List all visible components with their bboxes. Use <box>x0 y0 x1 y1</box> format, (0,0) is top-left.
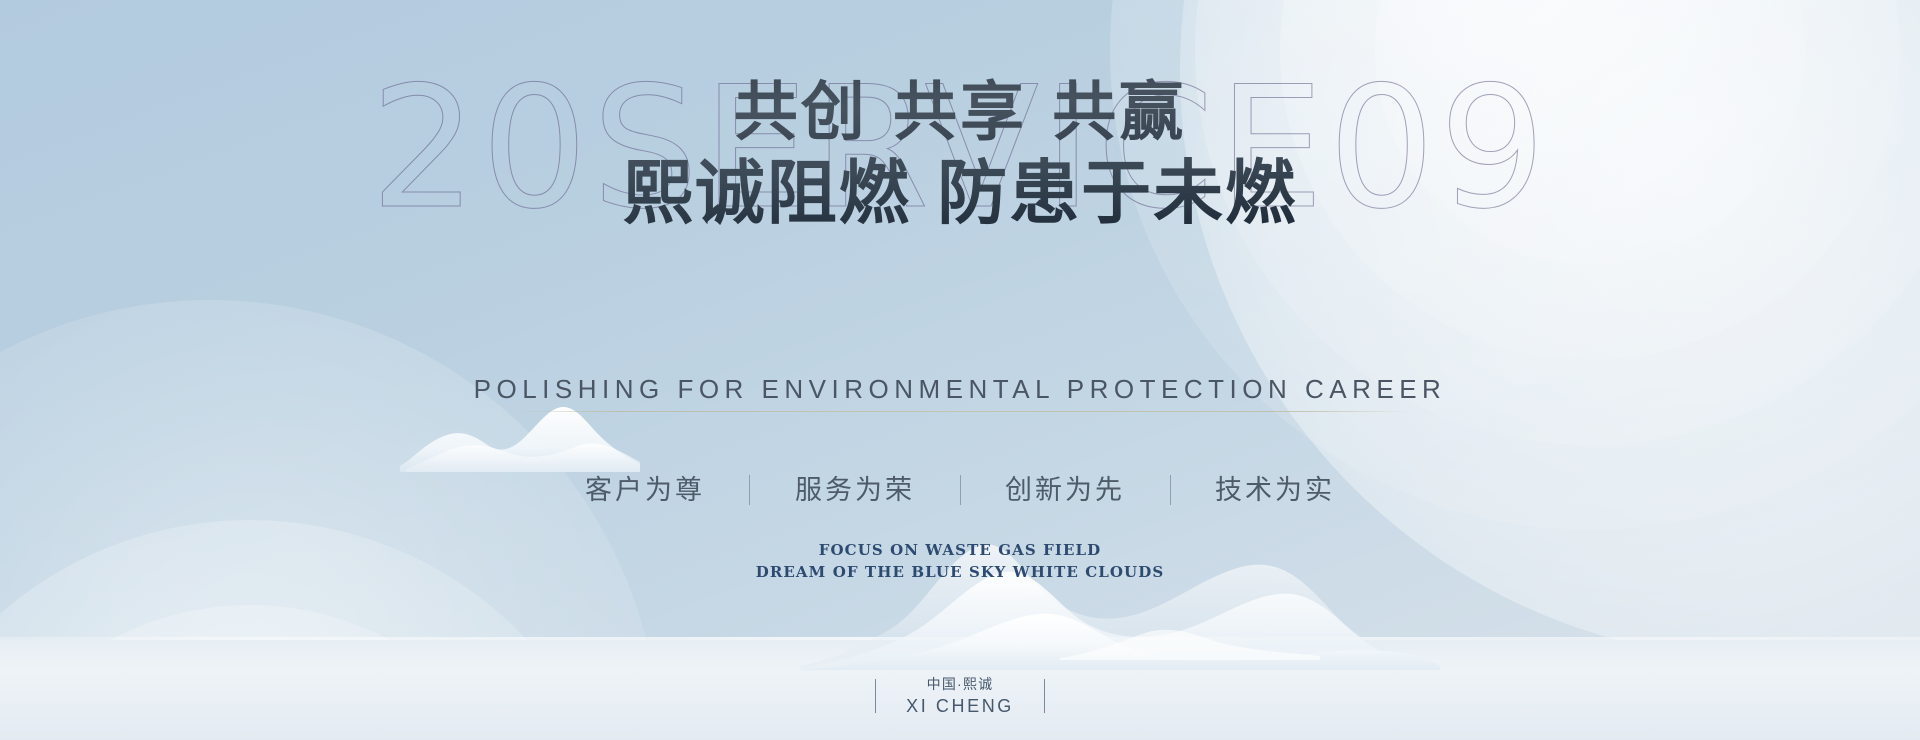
footer-logo-cn: 中国·熙诚 <box>906 675 1014 694</box>
footer-logo-bar-left <box>875 679 876 713</box>
headline-line-2: 熙诚阻燃 防患于未燃 <box>0 155 1920 231</box>
english-tagline: POLISHING FOR ENVIRONMENTAL PROTECTION C… <box>0 374 1920 405</box>
tagline-underline-rule <box>510 411 1410 412</box>
value-separator-1 <box>749 475 750 505</box>
values-row: 客户为尊 服务为荣 创新为先 技术为实 <box>0 468 1920 507</box>
value-separator-3 <box>1170 475 1171 505</box>
ground-edge-highlight <box>0 637 1920 640</box>
footer-logo-bar-right <box>1044 679 1045 713</box>
footer-logo-en: XI CHENG <box>906 694 1014 718</box>
value-item-1: 客户为尊 <box>585 468 705 507</box>
page-title: 共创 共享 共赢 熙诚阻燃 防患于未燃 <box>0 78 1920 231</box>
hero-banner: 20SERVICE09 共创 共享 共赢 熙诚阻燃 防患于未燃 POLISHIN… <box>0 0 1920 740</box>
serif-subtitle-line-1: FOCUS ON WASTE GAS FIELD <box>0 540 1920 562</box>
serif-subtitle-line-2: DREAM OF THE BLUE SKY WHITE CLOUDS <box>0 562 1920 584</box>
headline-line-1: 共创 共享 共赢 <box>0 78 1920 147</box>
serif-subtitle-block: FOCUS ON WASTE GAS FIELD DREAM OF THE BL… <box>0 540 1920 584</box>
value-item-3: 创新为先 <box>1005 468 1125 507</box>
value-item-4: 技术为实 <box>1215 468 1335 507</box>
footer-logo: 中国·熙诚 XI CHENG <box>0 675 1920 718</box>
footer-logo-text: 中国·熙诚 XI CHENG <box>906 675 1014 718</box>
value-item-2: 服务为荣 <box>795 468 915 507</box>
value-separator-2 <box>960 475 961 505</box>
